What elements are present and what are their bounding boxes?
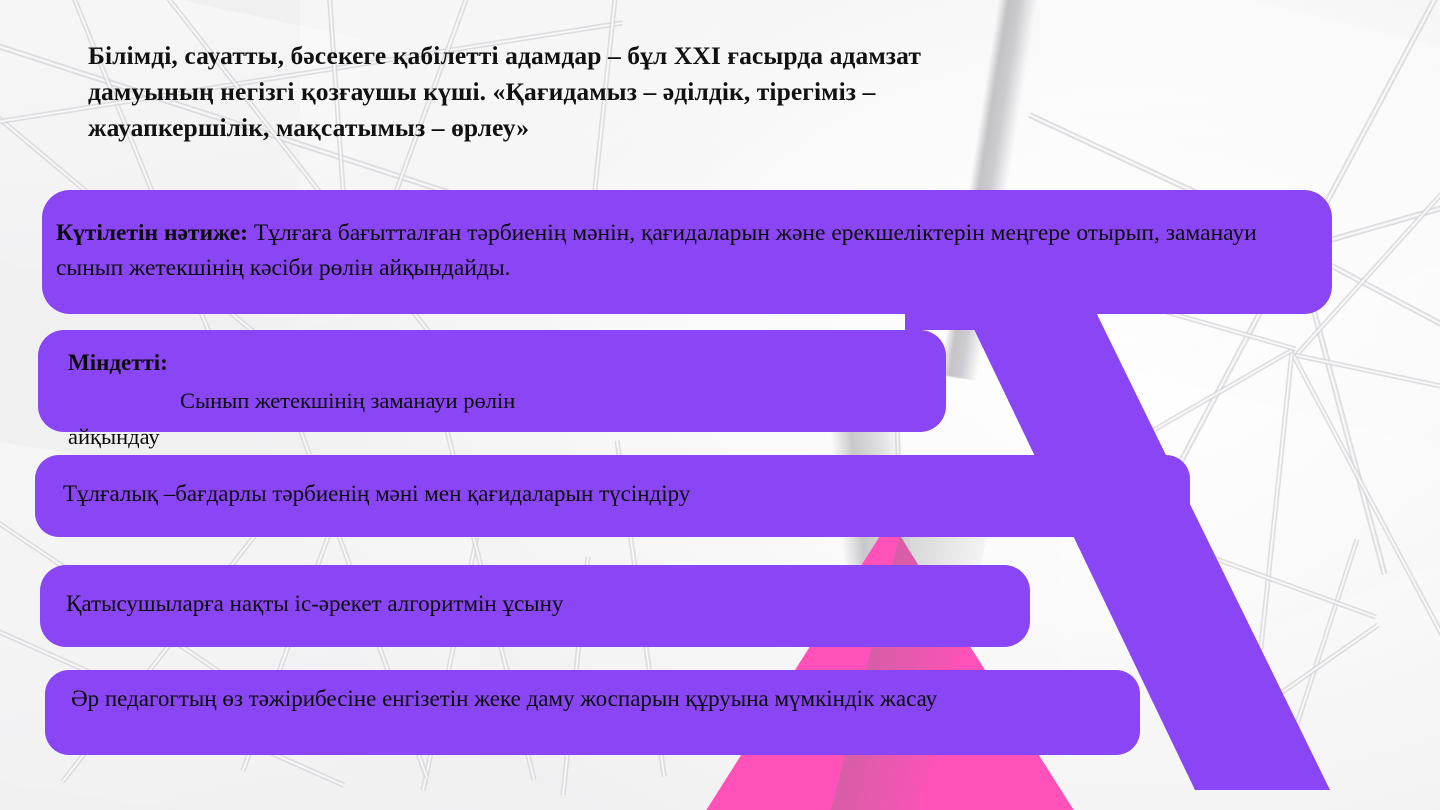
task-item-1: Сынып жетекшінің заманауи рөлін bbox=[180, 385, 928, 418]
headline-line-3: жауапкершілік, мақсатымыз – өрлеу» bbox=[88, 110, 1240, 146]
callout-task-4: Әр педагогтың өз тәжірибесіне енгізетін … bbox=[45, 670, 1140, 755]
callout-task-3: Қатысушыларға нақты іс-әрекет алгоритмін… bbox=[40, 565, 1030, 647]
expected-result-label: Күтілетін нәтиже: bbox=[56, 220, 248, 246]
expected-result-text: Күтілетін нәтиже: Тұлғаға бағытталған тә… bbox=[56, 216, 1314, 287]
headline-line-1: Білімді, сауатты, бәсекеге қабілетті ада… bbox=[88, 38, 1240, 74]
task-item-1-overflow: айқындау bbox=[68, 424, 160, 450]
task-item-4: Әр педагогтың өз тәжірибесіне енгізетін … bbox=[71, 682, 1122, 717]
task-item-2: Тұлғалық –бағдарлы тәрбиенің мәні мен қа… bbox=[63, 477, 1172, 510]
tasks-heading-label: Міндетті: bbox=[68, 350, 168, 375]
callout-tasks-heading: Міндетті: Сынып жетекшінің заманауи рөлі… bbox=[38, 330, 946, 432]
headline-line-2: дамуының негізгі қозғаушы күші. «Қағидам… bbox=[88, 74, 1240, 110]
task-item-3: Қатысушыларға нақты іс-әрекет алгоритмін… bbox=[66, 587, 1012, 620]
callout-task-2: Тұлғалық –бағдарлы тәрбиенің мәні мен қа… bbox=[35, 455, 1190, 537]
slide-headline: Білімді, сауатты, бәсекеге қабілетті ада… bbox=[88, 38, 1240, 147]
presentation-slide: Білімді, сауатты, бәсекеге қабілетті ада… bbox=[0, 0, 1440, 810]
callout-expected-result: Күтілетін нәтиже: Тұлғаға бағытталған тә… bbox=[42, 190, 1332, 314]
